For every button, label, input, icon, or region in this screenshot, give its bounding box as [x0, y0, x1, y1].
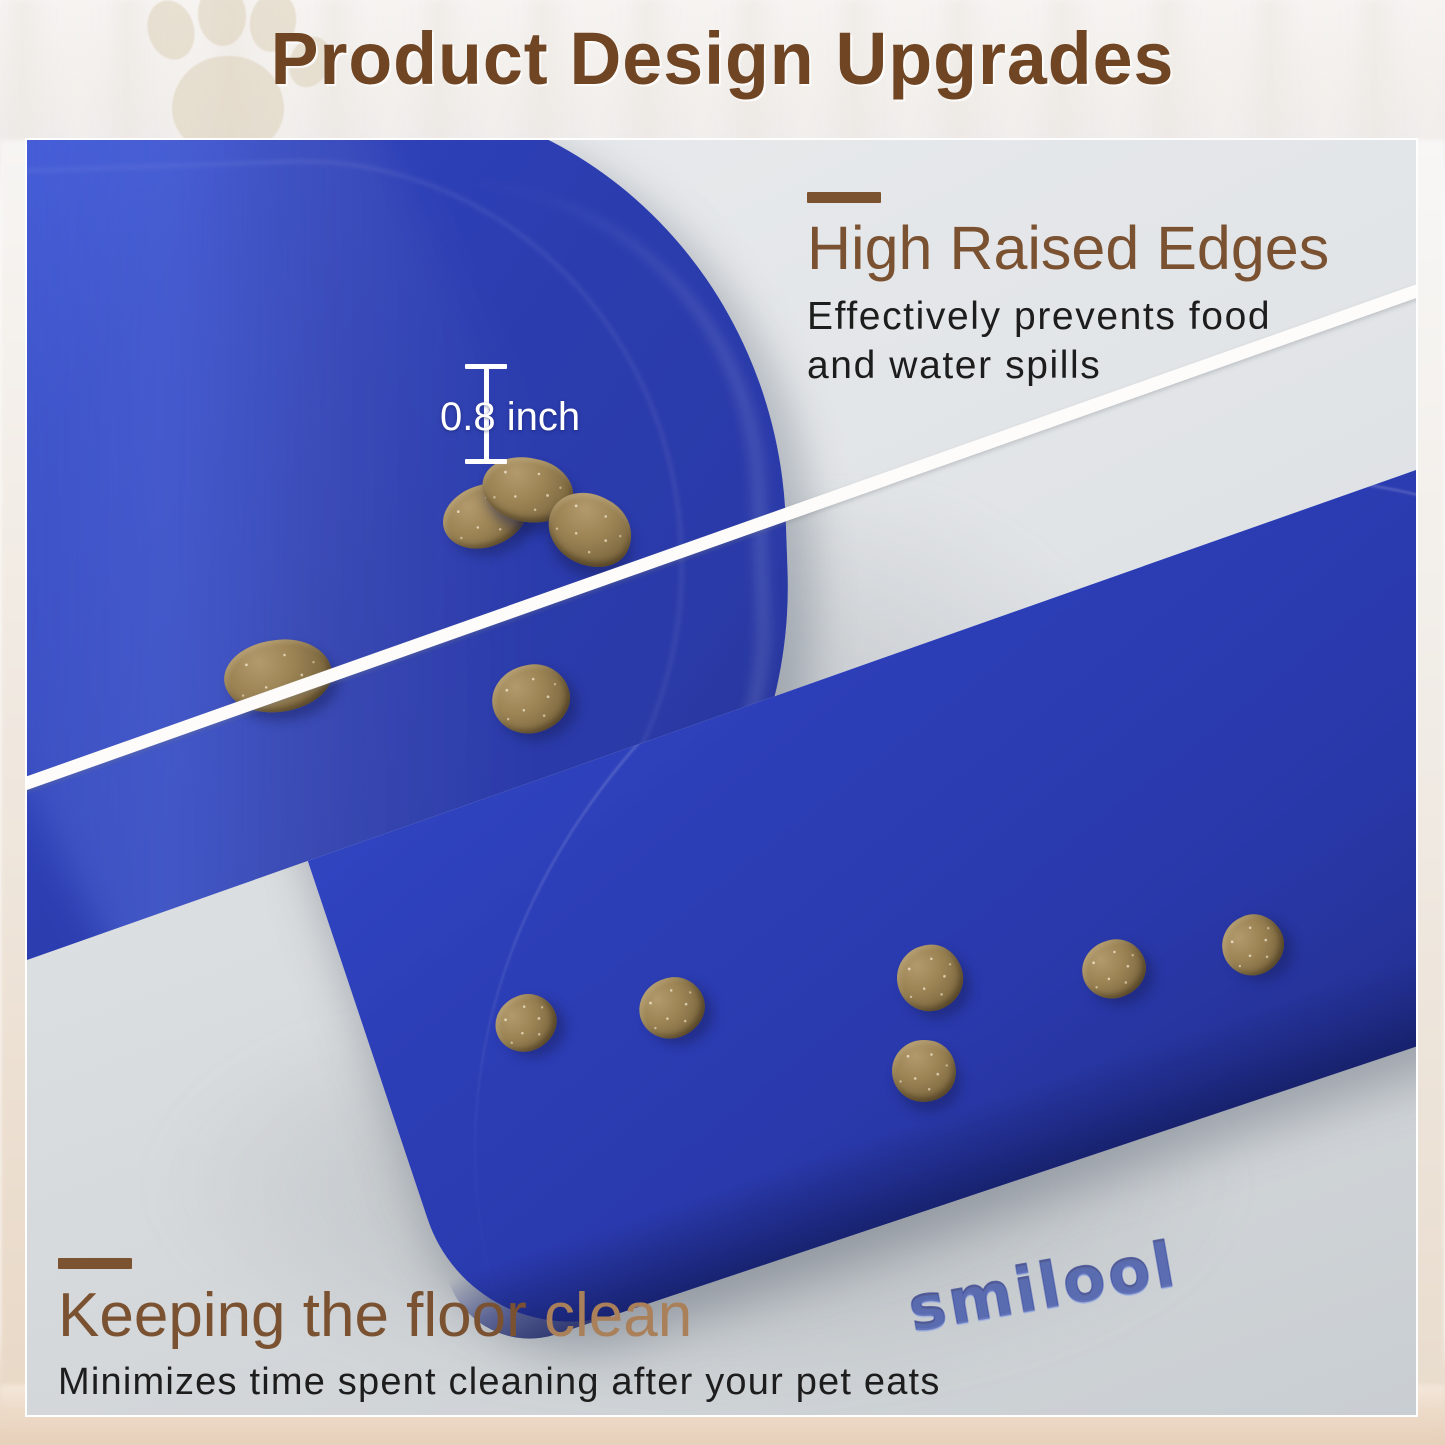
callout-subtitle-line2: and water spills — [807, 342, 1329, 391]
callout-title-part2: clean — [544, 1281, 692, 1350]
page-title: Product Design Upgrades — [22, 16, 1424, 101]
callout-title: Keeping the floor clean — [58, 1283, 941, 1348]
callout-title: High Raised Edges — [807, 217, 1329, 280]
product-infographic: Product Design Upgrades 0. — [0, 0, 1445, 1445]
callout-keeping-floor-clean: Keeping the floor clean Minimizes time s… — [58, 1258, 941, 1406]
callout-subtitle: Effectively prevents food and water spil… — [807, 293, 1329, 391]
accent-dash-icon — [807, 192, 881, 203]
background-left-strip — [0, 140, 30, 1413]
background-right-strip — [1413, 140, 1445, 1413]
accent-dash-icon — [58, 1258, 132, 1269]
callout-subtitle-line1: Effectively prevents food — [807, 293, 1329, 342]
callout-title-part1: Keeping the floor — [58, 1281, 544, 1350]
callout-subtitle: Minimizes time spent cleaning after your… — [58, 1360, 941, 1406]
header-banner: Product Design Upgrades — [0, 0, 1445, 140]
callout-high-raised-edges: High Raised Edges Effectively prevents f… — [807, 192, 1329, 391]
dimension-label: 0.8 inch — [440, 395, 580, 440]
